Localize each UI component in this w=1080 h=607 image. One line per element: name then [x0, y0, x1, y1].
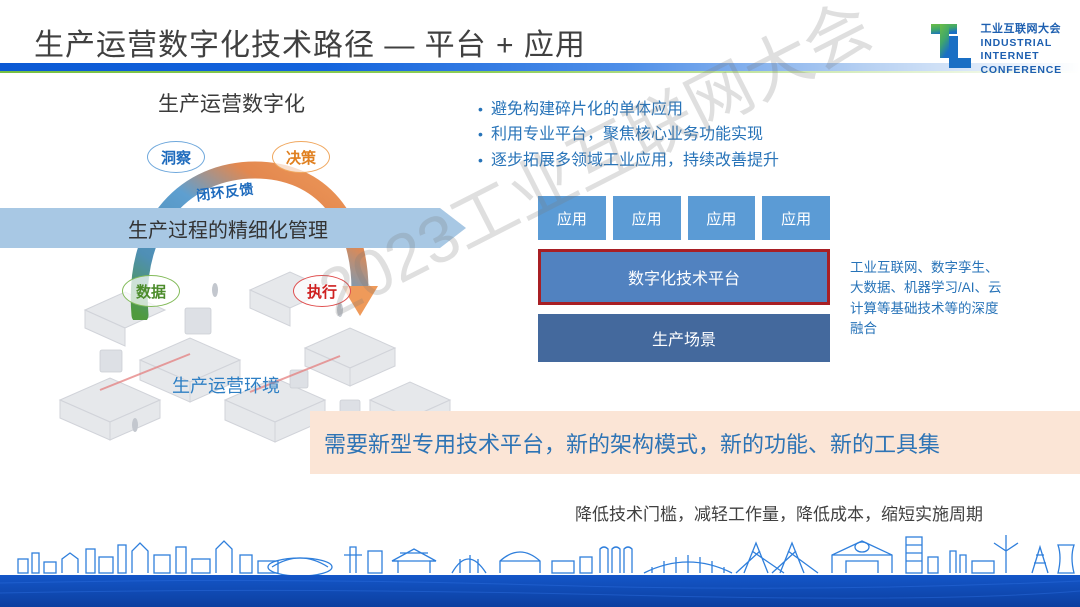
- title-divider-blue: [0, 63, 1080, 71]
- logo-wordmark: 工业互联网大会 INDUSTRIAL INTERNET CONFERENCE: [980, 22, 1062, 78]
- highlight-callout: 需要新型专用技术平台，新的架构模式，新的功能、新的工具集: [310, 411, 1080, 474]
- stack-annotation-line: 融合: [850, 319, 1060, 339]
- digital-platform-box: 数字化技术平台: [538, 249, 830, 305]
- list-item: • 逐步拓展多领域工业应用，持续改善提升: [478, 148, 898, 173]
- slide-canvas: 生产运营数字化技术路径 — 平台 + 应用 工业互联网大会 INDUSTRIAL…: [0, 0, 1080, 607]
- list-item: • 利用专业平台，聚焦核心业务功能实现: [478, 122, 898, 147]
- production-scene-box: 生产场景: [538, 314, 830, 362]
- application-box: 应用: [538, 196, 606, 240]
- loop-node-data: 数据: [122, 275, 180, 307]
- bullet-list: • 避免构建碎片化的单体应用 • 利用专业平台，聚焦核心业务功能实现 • 逐步拓…: [478, 97, 898, 173]
- stack-annotation-line: 工业互联网、数字孪生、: [850, 258, 1060, 278]
- city-industry-skyline-icon: [0, 529, 1080, 607]
- stack-annotation-line: 计算等基础技术等的深度: [850, 299, 1060, 319]
- title-divider-green: [0, 71, 1080, 73]
- loop-node-decision: 决策: [272, 141, 330, 173]
- loop-node-execution: 执行: [293, 275, 351, 307]
- conference-logo: 工业互联网大会 INDUSTRIAL INTERNET CONFERENCE: [929, 22, 1062, 78]
- application-layer-row: 应用 应用 应用 应用: [538, 196, 830, 240]
- bullet-dot-icon: •: [478, 123, 491, 145]
- architecture-stack: 应用 应用 应用 应用 数字化技术平台 生产场景: [538, 196, 830, 362]
- loop-node-insight: 洞察: [147, 141, 205, 173]
- list-item: • 避免构建碎片化的单体应用: [478, 97, 898, 122]
- left-panel-heading: 生产运营数字化: [158, 88, 305, 118]
- bullet-dot-icon: •: [478, 149, 491, 171]
- logo-name-cn: 工业互联网大会: [980, 23, 1062, 37]
- logo-line-internet: INTERNET: [980, 50, 1062, 64]
- bullet-text: 利用专业平台，聚焦核心业务功能实现: [491, 122, 763, 147]
- highlight-callout-text: 需要新型专用技术平台，新的架构模式，新的功能、新的工具集: [310, 427, 940, 459]
- bullet-text: 避免构建碎片化的单体应用: [491, 97, 683, 122]
- footer-note: 降低技术门槛，减轻工作量，降低成本，缩短实施周期: [575, 500, 983, 525]
- stack-annotation: 工业互联网、数字孪生、 大数据、机器学习/AI、云 计算等基础技术等的深度 融合: [850, 258, 1060, 339]
- page-title: 生产运营数字化技术路径 — 平台 + 应用: [34, 20, 586, 64]
- logo-line-conference: CONFERENCE: [980, 64, 1062, 78]
- bullet-text: 逐步拓展多领域工业应用，持续改善提升: [491, 148, 779, 173]
- process-banner-label: 生产过程的精细化管理: [128, 214, 328, 243]
- logo-line-industrial: INDUSTRIAL: [980, 37, 1062, 51]
- bullet-dot-icon: •: [478, 98, 491, 120]
- stack-annotation-line: 大数据、机器学习/AI、云: [850, 278, 1060, 298]
- application-box: 应用: [613, 196, 681, 240]
- application-box: 应用: [762, 196, 830, 240]
- environment-label: 生产运营环境: [172, 372, 280, 398]
- ii-monogram-icon: [929, 22, 973, 70]
- application-box: 应用: [688, 196, 756, 240]
